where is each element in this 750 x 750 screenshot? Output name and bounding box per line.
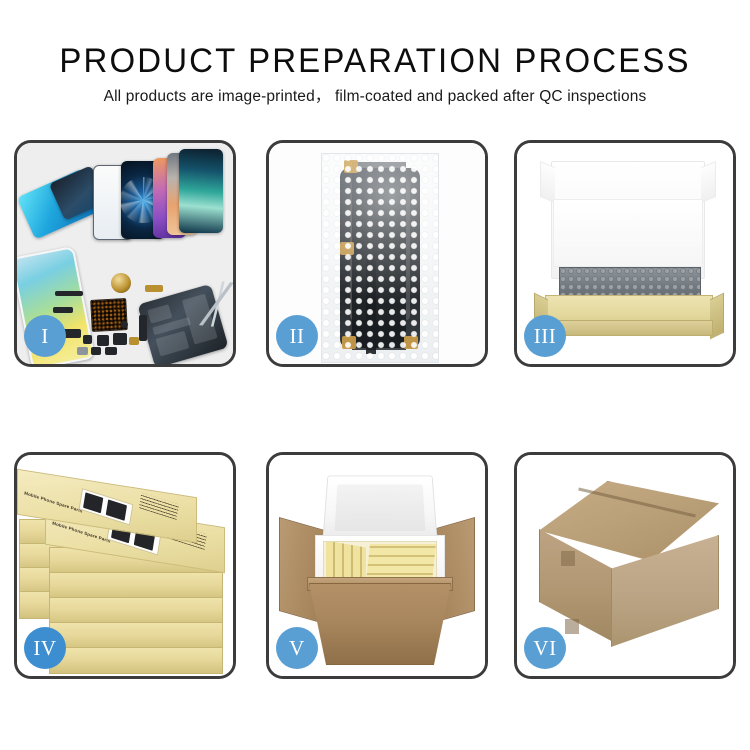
- process-step-panel-6: VI: [514, 452, 736, 679]
- process-step-panel-1: I: [14, 140, 236, 367]
- bottom-left-gold-connector: [342, 336, 356, 349]
- stacked-kraft-boxes-scene: Mobile Phone Spare Parts Mobile Phone Sp…: [17, 455, 233, 676]
- box-label-text: Mobile Phone Spare Parts: [24, 490, 83, 513]
- step-badge-1: I: [24, 315, 66, 357]
- earpiece-component: [113, 333, 127, 345]
- metal-shield-component: [77, 347, 88, 355]
- gold-flex-strip: [145, 285, 163, 292]
- carton-tape-tab-upper: [561, 551, 575, 566]
- vibration-motor-component: [111, 273, 131, 293]
- process-step-panel-2: II: [266, 140, 488, 367]
- screw-bracket-component: [83, 335, 92, 344]
- antenna-clip-component: [105, 347, 117, 355]
- box-label-spec-lines: [139, 493, 179, 520]
- long-flex-cable: [139, 315, 147, 341]
- carton-with-foam-scene: V: [269, 455, 485, 676]
- stacked-box-layer: [49, 647, 223, 674]
- tweezers-tool: [198, 279, 233, 329]
- white-foam-sheet: [553, 199, 703, 267]
- step-badge-3: III: [524, 315, 566, 357]
- process-steps-grid: I II: [0, 0, 750, 750]
- step-badge-4: IV: [24, 627, 66, 669]
- process-step-panel-3: III: [514, 140, 736, 367]
- carton-tape-tab-lower: [565, 619, 579, 634]
- round-sensor-component: [121, 321, 128, 328]
- kraft-box-front-panel: [545, 320, 713, 336]
- speaker-mesh-component: [55, 291, 83, 296]
- bottom-right-gold-connector: [404, 336, 418, 349]
- carton-body: [309, 583, 451, 665]
- box-label-window: [79, 488, 134, 525]
- step-badge-6: VI: [524, 627, 566, 669]
- button-flex-component: [91, 347, 101, 355]
- step-badge-2: II: [276, 315, 318, 357]
- bubble-wrapped-part-scene: II: [269, 143, 485, 364]
- top-gold-connector: [344, 160, 358, 173]
- bubble-wrap-bag: [321, 153, 439, 363]
- product-preparation-process-infographic: PRODUCT PREPARATION PROCESS All products…: [0, 0, 750, 750]
- gold-connector-component: [129, 337, 139, 345]
- wrapped-flex-cable: [366, 260, 376, 354]
- sim-tray-component: [97, 335, 109, 346]
- flex-ribbon-component: [53, 307, 73, 313]
- phone-parts-scene: I: [17, 143, 233, 364]
- sealed-carton-scene: VI: [517, 455, 733, 676]
- process-step-panel-4: Mobile Phone Spare Parts Mobile Phone Sp…: [14, 452, 236, 679]
- step-badge-5: V: [276, 627, 318, 669]
- process-step-panel-5: V: [266, 452, 488, 679]
- foam-box-lid: [322, 475, 437, 541]
- middle-gold-connector: [340, 242, 354, 255]
- wrapped-screen-strip: [352, 162, 406, 350]
- teal-gradient-phone: [179, 149, 223, 233]
- open-mailer-box-scene: III: [517, 143, 733, 364]
